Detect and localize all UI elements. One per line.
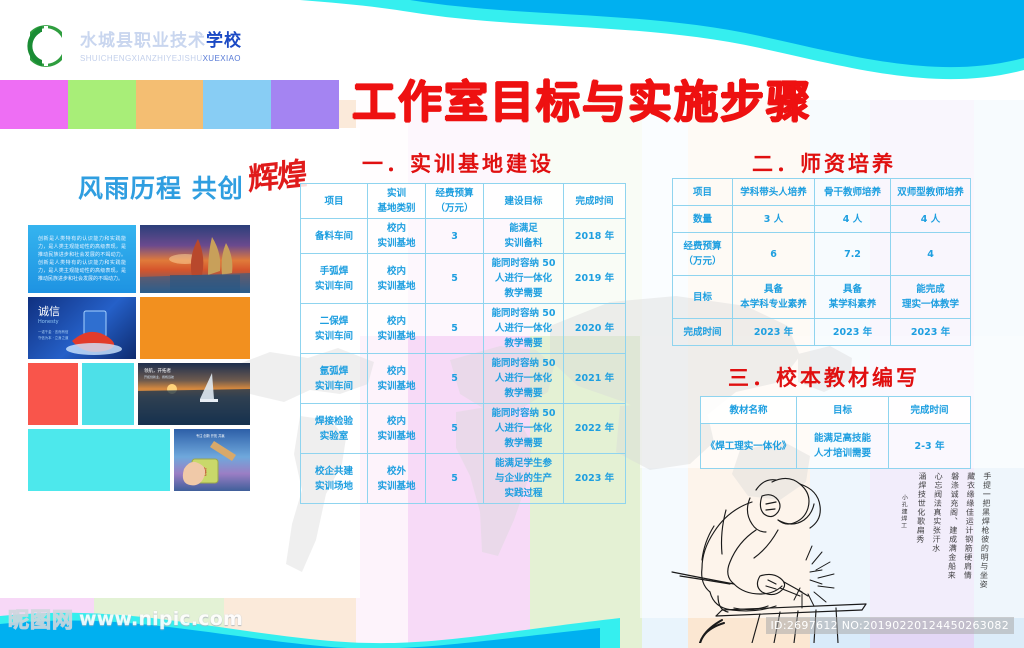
cell-value: 骨干教师培养 bbox=[815, 179, 891, 206]
cell-value: 7.2 bbox=[815, 233, 891, 276]
table-row: 备料车间 校内实训基地 3 能满足实训备料 2018 年 bbox=[301, 219, 626, 254]
calligraphy-column: 心忘阀法真实张汗水 bbox=[928, 472, 944, 553]
cell-deadline: 2019 年 bbox=[564, 254, 626, 304]
photo-collage: 创新是人类特有的认识能力和实践能力，是人类主观能动性的高级表现，是推动民族进步和… bbox=[28, 225, 274, 520]
cell-project: 校企共建实训场地 bbox=[301, 454, 368, 504]
color-block-strip bbox=[0, 80, 339, 129]
photo-text-card: 创新是人类特有的认识能力和实践能力，是人类主观能动性的高级表现，是推动民族进步和… bbox=[28, 225, 136, 293]
table-header-row: 教材名称 目标 完成时间 bbox=[701, 397, 971, 424]
cell-label: 目标 bbox=[673, 276, 733, 319]
photo-hand-writing-card: 专注 创新 开拓 共赢 囍 bbox=[174, 429, 250, 491]
cell-category: 校内实训基地 bbox=[368, 354, 426, 404]
strip-block-orange bbox=[136, 80, 204, 129]
cell-value: 具备本学科专业素养 bbox=[733, 276, 815, 319]
cell-goal: 能同时容纳 50人进行一体化教学需要 bbox=[484, 404, 564, 454]
section3-title: 三．校本教材编写 bbox=[728, 362, 920, 392]
table-row: 目标 具备本学科专业素养 具备某学科素养 能完成理实一体教学 bbox=[673, 276, 971, 319]
school-logo: 水城 水城县职业技术学校 SHUICHENGXIANZHIYEJISHUXUEX… bbox=[22, 22, 242, 70]
th-project: 项目 bbox=[301, 184, 368, 219]
cell-deadline: 2021 年 bbox=[564, 354, 626, 404]
cell-value: 2023 年 bbox=[815, 319, 891, 346]
cell-category: 校内实训基地 bbox=[368, 219, 426, 254]
table-row: 《焊工理实一体化》 能满足高技能人才培训需要 2-3 年 bbox=[701, 424, 971, 469]
training-base-table: 项目 实训基地类别 经费预算（万元） 建设目标 完成时间 备料车间 校内实训基地… bbox=[300, 183, 626, 504]
table-row: 项目 学科带头人培养 骨干教师培养 双师型教师培养 bbox=[673, 179, 971, 206]
photo-sailboat-sunrise: 领航，开拓者 开拓创新业，扬帆远航 bbox=[138, 363, 250, 425]
cell-value: 4 bbox=[891, 233, 971, 276]
cell-budget: 5 bbox=[426, 454, 484, 504]
table-row: 完成时间 2023 年 2023 年 2023 年 bbox=[673, 319, 971, 346]
calligraphy-signature: 小孔建焊工 bbox=[894, 494, 908, 529]
cell-value: 2023 年 bbox=[891, 319, 971, 346]
svg-text:开拓创新业，扬帆远航: 开拓创新业，扬帆远航 bbox=[144, 374, 174, 379]
table-row: 焊接检验实验室 校内实训基地 5 能同时容纳 50人进行一体化教学需要 2022… bbox=[301, 404, 626, 454]
page-title: 工作室目标与实施步骤 bbox=[352, 78, 812, 128]
cell-deadline: 2018 年 bbox=[564, 219, 626, 254]
cell-category: 校内实训基地 bbox=[368, 404, 426, 454]
school-name-pinyin: SHUICHENGXIANZHIYEJISHUXUEXIAO bbox=[80, 54, 242, 63]
cell-category: 校外实训基地 bbox=[368, 454, 426, 504]
cell-value: 6 bbox=[733, 233, 815, 276]
table-row: 氩弧焊实训车间 校内实训基地 5 能同时容纳 50人进行一体化教学需要 2021… bbox=[301, 354, 626, 404]
photo-cyan-block bbox=[82, 363, 134, 425]
cell-budget: 5 bbox=[426, 304, 484, 354]
cell-value: 具备某学科素养 bbox=[815, 276, 891, 319]
cell-value: 2023 年 bbox=[733, 319, 815, 346]
photo-honesty-poster: 诚信 Honesty 一诺千金 · 言而有信 守信为本 · 立身之道 bbox=[28, 297, 136, 359]
th-textbook-deadline: 完成时间 bbox=[889, 397, 971, 424]
cell-value: 双师型教师培养 bbox=[891, 179, 971, 206]
strip-block-blue bbox=[203, 80, 271, 129]
cell-value: 能完成理实一体教学 bbox=[891, 276, 971, 319]
table-row: 校企共建实训场地 校外实训基地 5 能满足学生参与企业的生产实践过程 2023 … bbox=[301, 454, 626, 504]
svg-text:领航，开拓者: 领航，开拓者 bbox=[144, 367, 171, 374]
left-slogan: 风雨历程 共创 辉煌 bbox=[78, 160, 306, 205]
svg-text:诚信: 诚信 bbox=[38, 305, 60, 318]
svg-text:Honesty: Honesty bbox=[38, 319, 59, 325]
table-row: 二保焊实训车间 校内实训基地 5 能同时容纳 50人进行一体化教学需要 2020… bbox=[301, 304, 626, 354]
photo-wide-cyan-block bbox=[28, 429, 170, 491]
slogan-highlight: 辉煌 bbox=[248, 148, 306, 199]
photo-red-block bbox=[28, 363, 78, 425]
watermark-site-name: 昵图网 bbox=[8, 604, 74, 634]
cell-value: 4 人 bbox=[891, 206, 971, 233]
cell-budget: 3 bbox=[426, 219, 484, 254]
section2-title: 二．师资培养 bbox=[752, 148, 896, 178]
cell-goal: 能同时容纳 50人进行一体化教学需要 bbox=[484, 304, 564, 354]
th-goal: 建设目标 bbox=[484, 184, 564, 219]
watermark-site-url: www.nipic.com bbox=[79, 608, 243, 630]
cell-category: 校内实训基地 bbox=[368, 254, 426, 304]
cell-textbook-goal: 能满足高技能人才培训需要 bbox=[797, 424, 889, 469]
slogan-text: 风雨历程 共创 bbox=[78, 169, 244, 205]
th-textbook-name: 教材名称 bbox=[701, 397, 797, 424]
calligraphy-column: 磐涤诚充阁、建成满金船来 bbox=[943, 472, 960, 580]
cell-label: 经费预算（万元） bbox=[673, 233, 733, 276]
table-row: 经费预算（万元） 6 7.2 4 bbox=[673, 233, 971, 276]
cell-goal: 能同时容纳 50人进行一体化教学需要 bbox=[484, 354, 564, 404]
th-deadline: 完成时间 bbox=[564, 184, 626, 219]
svg-text:守信为本 · 立身之道: 守信为本 · 立身之道 bbox=[38, 335, 69, 340]
cell-goal: 能满足实训备料 bbox=[484, 219, 564, 254]
school-emblem-icon: 水城 bbox=[22, 22, 70, 70]
cell-project: 备料车间 bbox=[301, 219, 368, 254]
teacher-training-table: 项目 学科带头人培养 骨干教师培养 双师型教师培养 数量 3 人 4 人 4 人… bbox=[672, 178, 971, 346]
photo-caption: 创新是人类特有的认识能力和实践能力，是人类主观能动性的高级表现，是推动民族进步和… bbox=[38, 235, 126, 283]
svg-text:一诺千金 · 言而有信: 一诺千金 · 言而有信 bbox=[38, 329, 69, 334]
poster-canvas: 水城 水城县职业技术学校 SHUICHENGXIANZHIYEJISHUXUEX… bbox=[0, 0, 1024, 648]
cell-label: 项目 bbox=[673, 179, 733, 206]
cell-category: 校内实训基地 bbox=[368, 304, 426, 354]
cell-textbook-name: 《焊工理实一体化》 bbox=[701, 424, 797, 469]
strip-block-magenta bbox=[0, 80, 68, 129]
strip-block-purple bbox=[271, 80, 339, 129]
cell-budget: 5 bbox=[426, 254, 484, 304]
th-budget: 经费预算（万元） bbox=[426, 184, 484, 219]
school-name-cn: 水城县职业技术学校 bbox=[80, 26, 242, 51]
cell-deadline: 2022 年 bbox=[564, 404, 626, 454]
textbook-table: 教材名称 目标 完成时间 《焊工理实一体化》 能满足高技能人才培训需要 2-3 … bbox=[700, 396, 971, 469]
th-category: 实训基地类别 bbox=[368, 184, 426, 219]
cell-value: 3 人 bbox=[733, 206, 815, 233]
site-watermark: 昵图网 www.nipic.com bbox=[8, 604, 243, 634]
cell-value: 学科带头人培养 bbox=[733, 179, 815, 206]
cell-budget: 5 bbox=[426, 404, 484, 454]
calligraphy-column: 涵焊技世化歌扁秀 bbox=[912, 472, 928, 544]
cell-budget: 5 bbox=[426, 354, 484, 404]
table-row: 手弧焊实训车间 校内实训基地 5 能同时容纳 50人进行一体化教学需要 2019… bbox=[301, 254, 626, 304]
calligraphy-column: 藏衣缘缘佳运计钢筋硬肩情 bbox=[959, 472, 976, 580]
photo-sailing-ship-sunset bbox=[140, 225, 250, 293]
section1-title: 一．实训基地建设 bbox=[362, 148, 554, 178]
calligraphy-inscription: 手提一把黑焊枪彼的明与坐姿 藏衣缘缘佳运计钢筋硬肩情 磐涤诚充阁、建成满金船来 … bbox=[880, 472, 990, 622]
cell-goal: 能同时容纳 50人进行一体化教学需要 bbox=[484, 254, 564, 304]
svg-text:水城: 水城 bbox=[40, 30, 52, 38]
cell-goal: 能满足学生参与企业的生产实践过程 bbox=[484, 454, 564, 504]
th-textbook-goal: 目标 bbox=[797, 397, 889, 424]
cell-textbook-deadline: 2-3 年 bbox=[889, 424, 971, 469]
cell-project: 氩弧焊实训车间 bbox=[301, 354, 368, 404]
cell-deadline: 2023 年 bbox=[564, 454, 626, 504]
cell-label: 完成时间 bbox=[673, 319, 733, 346]
cell-value: 4 人 bbox=[815, 206, 891, 233]
svg-text:专注 创新 开拓 共赢: 专注 创新 开拓 共赢 bbox=[196, 433, 225, 438]
table-header-row: 项目 实训基地类别 经费预算（万元） 建设目标 完成时间 bbox=[301, 184, 626, 219]
cell-project: 二保焊实训车间 bbox=[301, 304, 368, 354]
cell-project: 焊接检验实验室 bbox=[301, 404, 368, 454]
calligraphy-column: 手提一把黑焊枪彼的明与坐姿 bbox=[975, 472, 992, 589]
cell-deadline: 2020 年 bbox=[564, 304, 626, 354]
table-row: 数量 3 人 4 人 4 人 bbox=[673, 206, 971, 233]
cell-label: 数量 bbox=[673, 206, 733, 233]
photo-orange-block bbox=[140, 297, 250, 359]
strip-block-green bbox=[68, 80, 136, 129]
cell-project: 手弧焊实训车间 bbox=[301, 254, 368, 304]
watermark-id: ID:2697612 NO:20190220124450263082 bbox=[766, 617, 1014, 634]
